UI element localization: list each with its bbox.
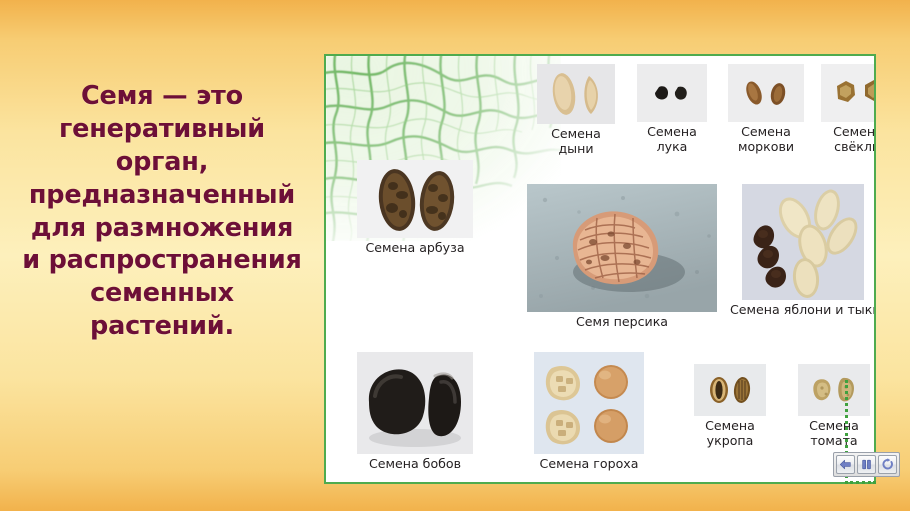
figure-bean-seeds: Семена бобов bbox=[348, 352, 482, 472]
figure-caption: Семена томата bbox=[788, 419, 876, 449]
watermelon-seeds-photo bbox=[357, 160, 473, 238]
media-controls-toolbar bbox=[833, 452, 900, 477]
carrot-seeds-photo bbox=[728, 64, 804, 122]
figure-caption: Семена гороха bbox=[526, 457, 652, 472]
figure-beet-seeds: Семена свёклы bbox=[814, 64, 876, 155]
seed-gallery-panel: Семена дыни Семена лука Семена моркови bbox=[324, 54, 876, 484]
back-button[interactable] bbox=[836, 455, 855, 474]
onion-seeds-photo bbox=[637, 64, 707, 122]
figure-caption: Семена свёклы bbox=[814, 125, 876, 155]
melon-seeds-photo bbox=[537, 64, 615, 124]
slide-canvas: Семя — это генеративный орган, предназна… bbox=[0, 0, 910, 511]
figure-caption: Семена яблони и тыквы bbox=[730, 303, 876, 318]
apple-pumpkin-seeds-photo bbox=[742, 184, 864, 300]
beet-seeds-photo bbox=[821, 64, 876, 122]
dill-seeds-photo bbox=[694, 364, 766, 416]
figure-caption: Семена дыни bbox=[530, 127, 622, 157]
replay-icon bbox=[881, 458, 894, 471]
figure-melon-seeds: Семена дыни bbox=[530, 64, 622, 157]
figure-caption: Семена бобов bbox=[348, 457, 482, 472]
bean-seeds-photo bbox=[357, 352, 473, 454]
figure-pea-seeds: Семена гороха bbox=[526, 352, 652, 472]
figure-tomato-seeds: Семена томата bbox=[788, 364, 876, 449]
peach-seed-photo bbox=[527, 184, 717, 312]
figure-watermelon-seeds: Семена арбуза bbox=[348, 160, 482, 256]
figure-caption: Семена моркови bbox=[722, 125, 810, 155]
pea-seeds-photo bbox=[534, 352, 644, 454]
pause-icon bbox=[860, 458, 873, 471]
figure-apple-pumpkin-seeds: Семена яблони и тыквы bbox=[730, 184, 876, 318]
figure-caption: Семя персика bbox=[524, 315, 720, 330]
tomato-seeds-photo bbox=[798, 364, 870, 416]
figure-caption: Семена арбуза bbox=[348, 241, 482, 256]
replay-button[interactable] bbox=[878, 455, 897, 474]
definition-text: Семя — это генеративный орган, предназна… bbox=[8, 80, 316, 343]
pause-button[interactable] bbox=[857, 455, 876, 474]
figure-carrot-seeds: Семена моркови bbox=[722, 64, 810, 155]
back-arrow-icon bbox=[839, 458, 852, 471]
figure-caption: Семена укропа bbox=[684, 419, 776, 449]
figure-onion-seeds: Семена лука bbox=[630, 64, 714, 155]
figure-caption: Семена лука bbox=[630, 125, 714, 155]
figure-dill-seeds: Семена укропа bbox=[684, 364, 776, 449]
figure-peach-seed: Семя персика bbox=[524, 184, 720, 330]
